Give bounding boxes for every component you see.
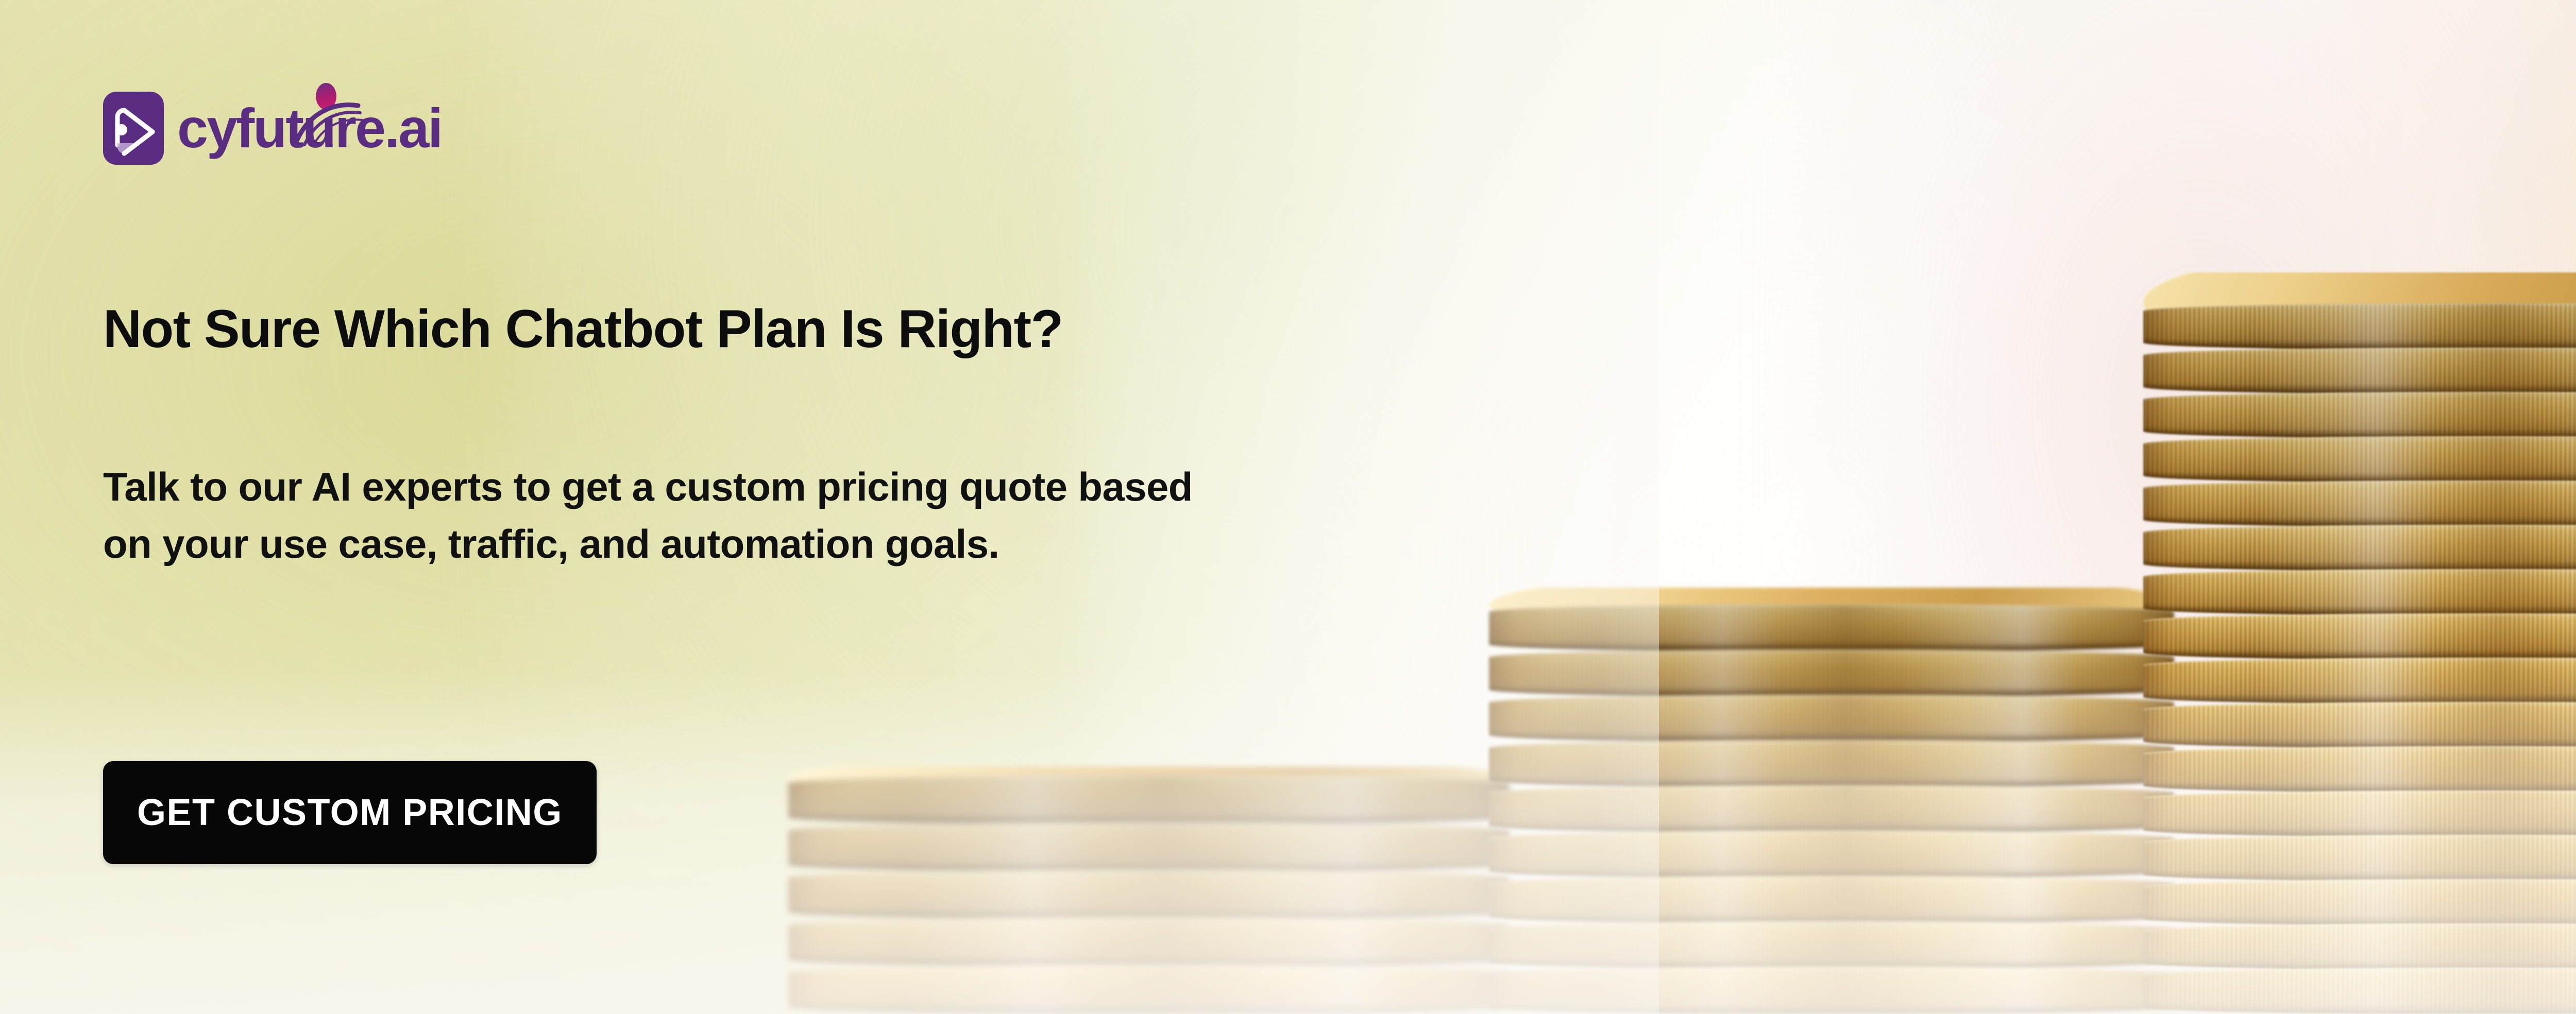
cyfuture-play-mark-icon	[103, 92, 164, 165]
hero-subcopy: Talk to our AI experts to get a custom p…	[103, 458, 2112, 573]
banner-content: cyfuture.ai Not Sure Which Chatbot Plan …	[103, 0, 2164, 1014]
pricing-cta-banner: cyfuture.ai Not Sure Which Chatbot Plan …	[0, 0, 2576, 1014]
brand-wordmark: cyfuture.ai	[177, 100, 447, 156]
wordmark-suffix: .ai	[384, 97, 442, 159]
subcopy-line-2: on your use case, traffic, and automatio…	[103, 515, 2112, 573]
get-custom-pricing-button[interactable]: GET CUSTOM PRICING	[103, 761, 597, 864]
wordmark-text: cyfuture	[177, 97, 384, 159]
magenta-dot-icon	[316, 83, 336, 110]
subcopy-line-1: Talk to our AI experts to get a custom p…	[103, 458, 2112, 515]
page-title: Not Sure Which Chatbot Plan Is Right?	[103, 301, 1063, 357]
brand-logo[interactable]: cyfuture.ai	[103, 92, 447, 165]
